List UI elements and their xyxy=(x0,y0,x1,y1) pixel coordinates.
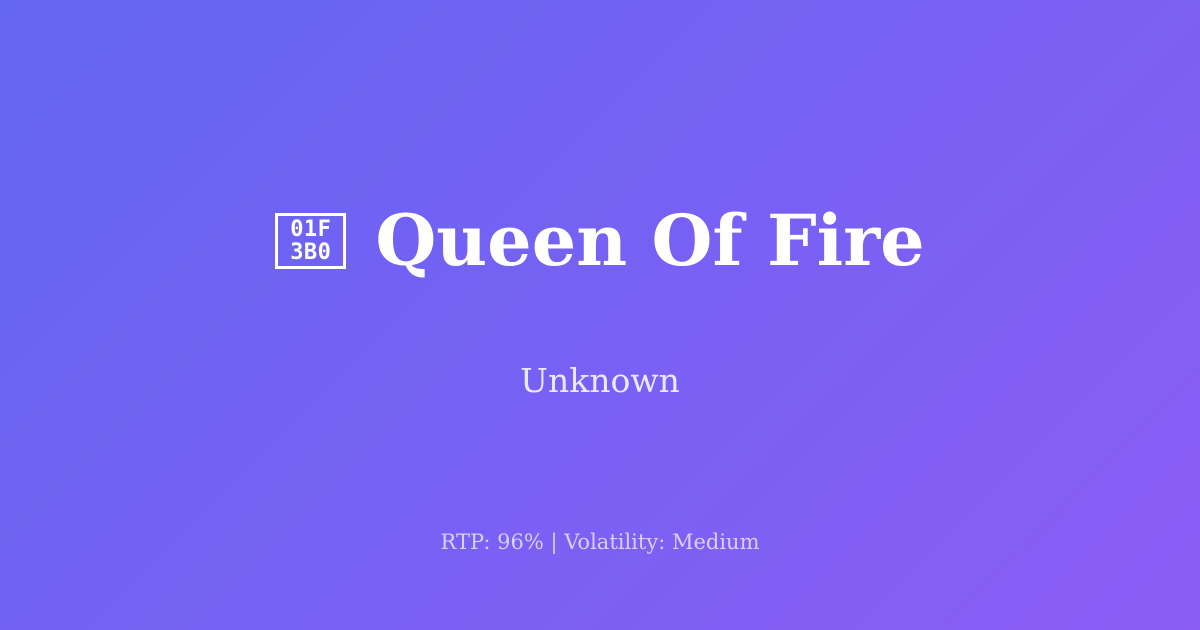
game-stats: RTP: 96% | Volatility: Medium xyxy=(0,528,1200,556)
slot-machine-icon: 01F 3B0 xyxy=(275,213,346,269)
page-title: Queen Of Fire xyxy=(375,204,924,278)
tofu-codepoint-bottom: 3B0 xyxy=(290,241,331,264)
game-provider: Unknown xyxy=(520,361,680,401)
card-center-stack: 01F 3B0 Queen Of Fire Unknown xyxy=(0,158,1200,401)
og-share-card: 01F 3B0 Queen Of Fire Unknown RTP: 96% |… xyxy=(0,0,1200,630)
tofu-codepoint-top: 01F xyxy=(290,218,331,241)
title-row: 01F 3B0 Queen Of Fire xyxy=(275,158,924,325)
